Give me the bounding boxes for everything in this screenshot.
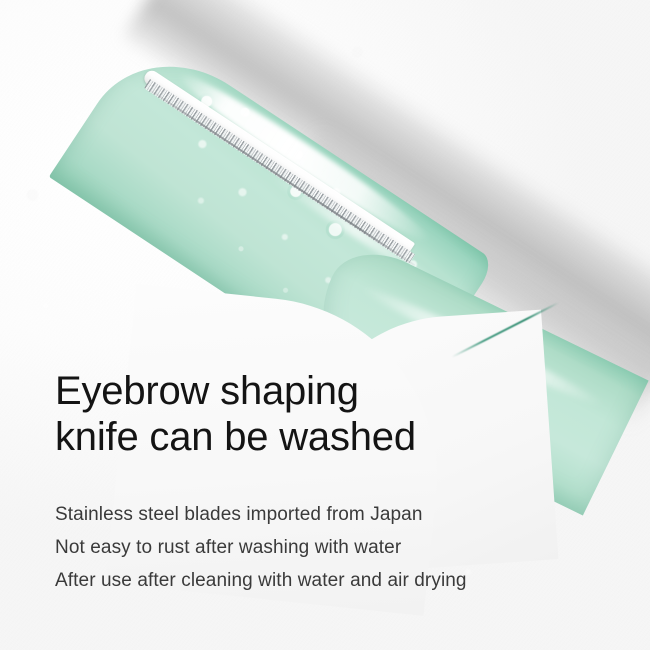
- feature-item: After use after cleaning with water and …: [55, 564, 467, 597]
- feature-item: Not easy to rust after washing with wate…: [55, 531, 467, 564]
- headline: Eyebrow shaping knife can be washed: [55, 368, 416, 460]
- feature-item: Stainless steel blades imported from Jap…: [55, 498, 467, 531]
- feature-list: Stainless steel blades imported from Jap…: [55, 498, 467, 597]
- product-image: Eyebrow shaping knife can be washed Stai…: [0, 0, 650, 650]
